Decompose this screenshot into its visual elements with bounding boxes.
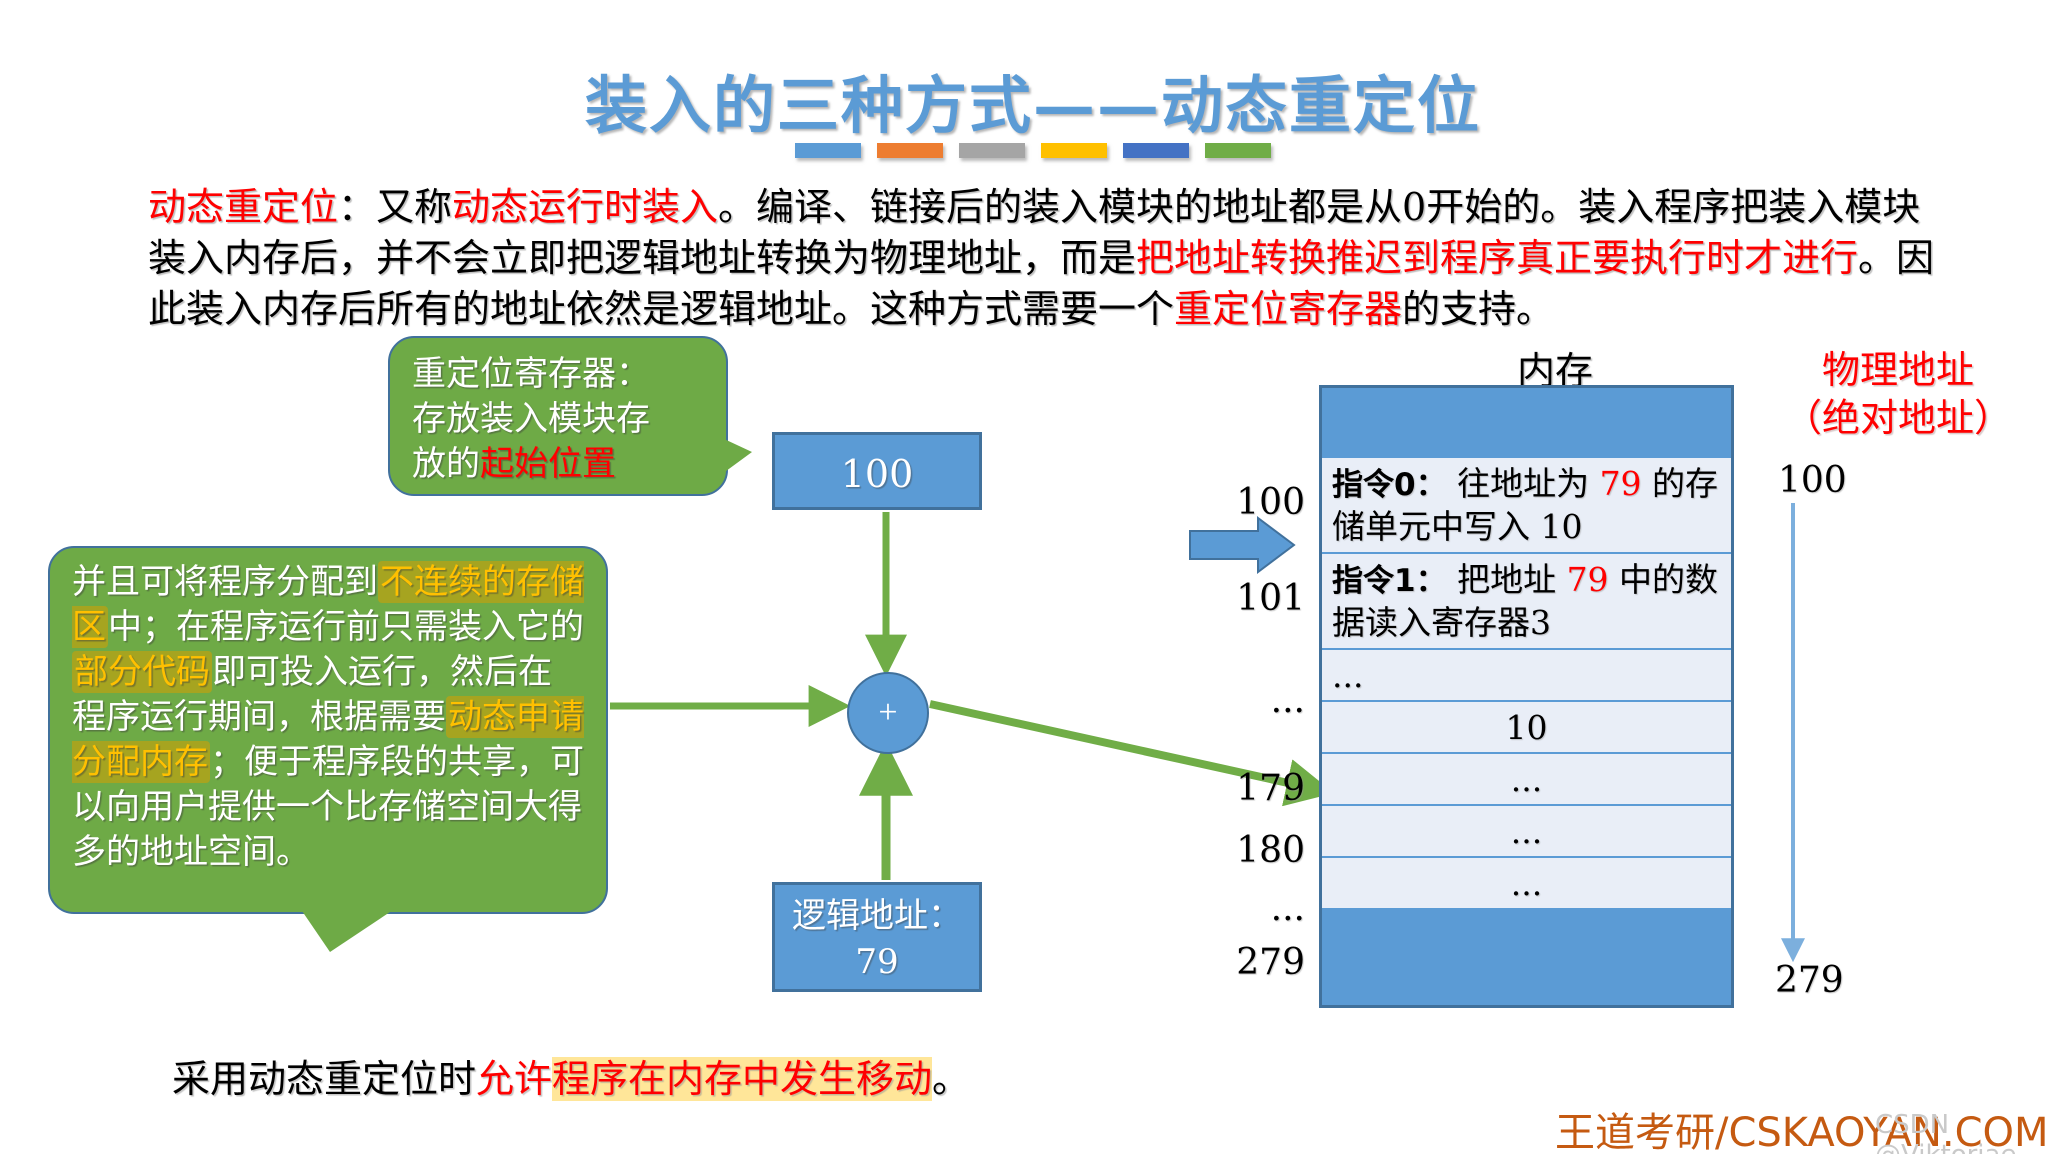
physical-address-bottom-value: 279 — [1775, 960, 1844, 1001]
table-row: ... — [1322, 858, 1731, 910]
address-label-179: 179 — [1185, 768, 1305, 809]
memory-row-bottom-filler — [1322, 910, 1731, 1005]
physical-address-title: 物理地址 （绝对地址） — [1748, 346, 2048, 442]
title-bar-5 — [1123, 143, 1189, 158]
watermark: CSDN @Viktoriae — [1875, 1110, 2066, 1154]
para-alias: 动态运行时装入 — [452, 185, 718, 229]
address-label-279: 279 — [1185, 942, 1305, 983]
instruction-1-address: 79 — [1567, 560, 1609, 599]
callout-register-tail — [722, 438, 752, 474]
bottom-note-plain: 采用动态重定位时 — [172, 1057, 476, 1101]
title-bar-6 — [1205, 143, 1271, 158]
title-bar-1 — [795, 143, 861, 158]
callout-register-line3-plain: 放的 — [412, 444, 480, 484]
physical-address-title-line1: 物理地址 — [1748, 346, 2048, 394]
para-term: 动态重定位 — [148, 185, 338, 229]
advantage-highlight-2: 部分代码 — [72, 651, 212, 693]
logical-address-label: 逻辑地址： — [775, 893, 979, 939]
blue-pointer-arrow — [1190, 518, 1294, 572]
bottom-note-tail: 。 — [932, 1057, 970, 1101]
memory-table: 指令0： 往地址为 79 的存储单元中写入 10 指令1： 把地址 79 中的数… — [1319, 385, 1734, 1008]
bottom-note-highlight: 程序在内存中发生移动 — [552, 1057, 932, 1101]
address-label-ellipsis-2: ... — [1185, 888, 1305, 929]
table-row: 指令1： 把地址 79 中的数据读入寄存器3 — [1322, 554, 1731, 650]
page-title: 装入的三种方式——动态重定位 — [0, 55, 2066, 145]
bottom-note-red: 允许 — [476, 1057, 552, 1101]
address-label-100: 100 — [1185, 482, 1305, 523]
callout-register-line2: 存放装入模块存 — [412, 397, 704, 442]
callout-advantages: 并且可将程序分配到不连续的存储区中；在程序运行前只需装入它的部分代码即可投入运行… — [48, 546, 608, 914]
instruction-1-label: 指令1： — [1332, 563, 1447, 599]
callout-relocation-register: 重定位寄存器： 存放装入模块存 放的起始位置 — [388, 336, 728, 496]
callout-register-line3-highlight: 起始位置 — [480, 444, 616, 484]
table-row: 10 — [1322, 702, 1731, 754]
bottom-note: 采用动态重定位时允许程序在内存中发生移动。 — [172, 1048, 970, 1103]
para-text-1: ：又称 — [338, 185, 452, 229]
memory-row-top-filler — [1322, 388, 1731, 458]
callout-advantages-tail — [300, 908, 396, 952]
definition-paragraph: 动态重定位：又称动态运行时装入。编译、链接后的装入模块的地址都是从0开始的。装入… — [148, 182, 1948, 335]
physical-address-title-line2: （绝对地址） — [1748, 394, 2048, 442]
para-emphasis-1: 把地址转换推迟到程序真正要执行时才进行 — [1136, 236, 1858, 280]
callout-register-line1: 重定位寄存器： — [412, 352, 704, 397]
address-label-180: 180 — [1185, 830, 1305, 871]
address-label-101: 101 — [1185, 578, 1305, 619]
table-row: ... — [1322, 650, 1731, 702]
title-bar-3 — [959, 143, 1025, 158]
relocation-register-value-box: 100 — [772, 432, 982, 510]
physical-address-top-value: 100 — [1778, 460, 1847, 501]
title-decoration-bars — [0, 143, 2066, 158]
slide-canvas: 装入的三种方式——动态重定位 动态重定位：又称动态运行时装入。编译、链接后的装入… — [0, 0, 2066, 1154]
logical-address-box: 逻辑地址： 79 — [772, 882, 982, 992]
table-row: ... — [1322, 806, 1731, 858]
title-bar-4 — [1041, 143, 1107, 158]
callout-register-line3: 放的起始位置 — [412, 442, 704, 487]
logical-address-value: 79 — [775, 939, 979, 985]
instruction-1-text-a: 把地址 — [1447, 560, 1567, 599]
address-label-ellipsis-1: ... — [1185, 680, 1305, 721]
table-row: ... — [1322, 754, 1731, 806]
instruction-0-label: 指令0： — [1332, 467, 1447, 503]
advantage-text-2: 中；在程序运行前只需装入它的 — [108, 607, 584, 647]
para-text-4: 的支持。 — [1402, 287, 1554, 331]
advantage-text-1: 并且可将程序分配到 — [72, 562, 378, 602]
instruction-0-text-a: 往地址为 — [1447, 464, 1600, 503]
table-row: 指令0： 往地址为 79 的存储单元中写入 10 — [1322, 458, 1731, 554]
para-emphasis-2: 重定位寄存器 — [1174, 287, 1402, 331]
instruction-0-address: 79 — [1600, 464, 1642, 503]
title-bar-2 — [877, 143, 943, 158]
adder-node: + — [847, 672, 929, 754]
